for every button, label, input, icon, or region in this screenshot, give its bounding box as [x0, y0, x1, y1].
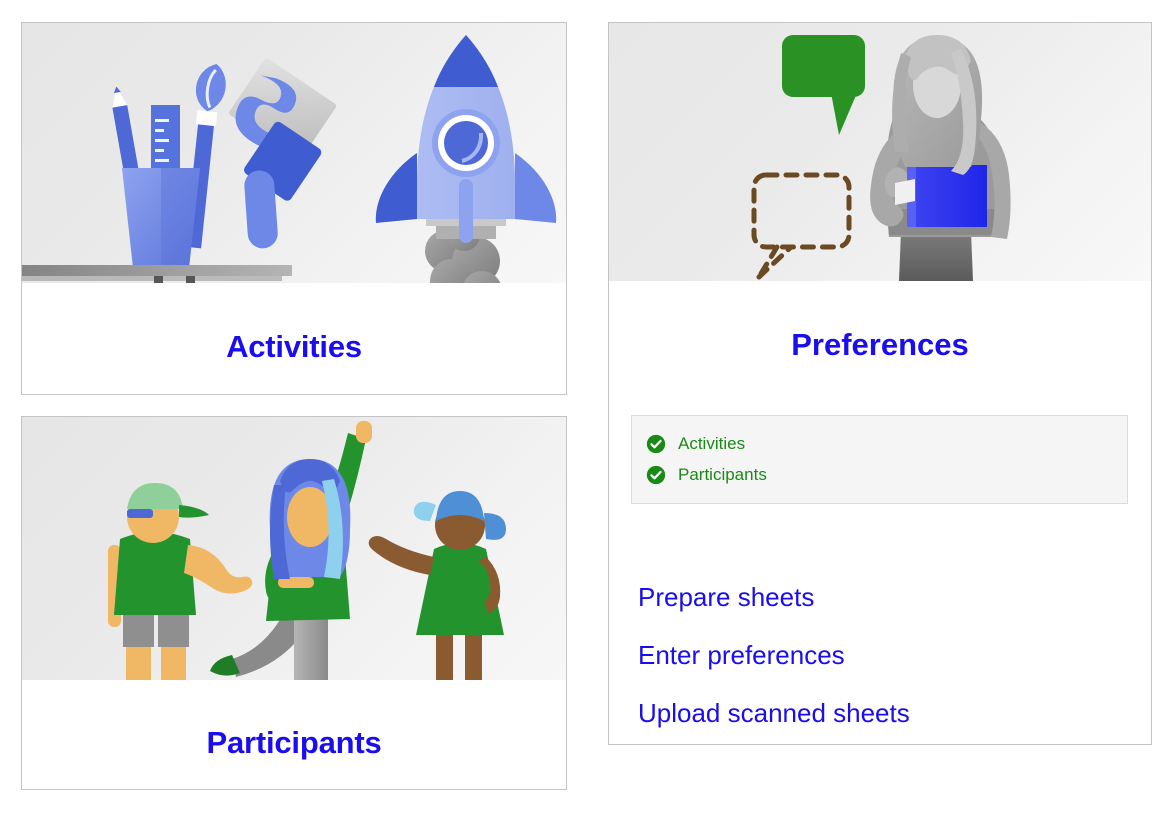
woman-with-speech-bubbles-icon — [609, 23, 1151, 281]
checklist-label: Activities — [678, 434, 745, 454]
activities-illustration — [22, 23, 566, 283]
three-people-celebrating-icon — [22, 417, 566, 680]
card-activities[interactable]: Activities — [21, 22, 567, 395]
panel-title-preferences: Preferences — [609, 327, 1151, 363]
woman-figure — [870, 35, 1010, 281]
card-participants[interactable]: Participants — [21, 416, 567, 790]
checklist-item-participants[interactable]: Participants — [632, 459, 1127, 490]
checklist-label: Participants — [678, 465, 767, 485]
check-circle-icon — [646, 434, 666, 454]
participant-woman-center — [210, 421, 372, 680]
card-title-activities: Activities — [22, 329, 566, 365]
participant-boy — [108, 483, 252, 680]
preferences-illustration — [609, 23, 1151, 281]
participants-illustration — [22, 417, 566, 680]
completion-checklist: Activities Participants — [631, 415, 1128, 504]
page-root: Activities — [0, 0, 1174, 816]
check-circle-icon — [646, 465, 666, 485]
card-title-participants: Participants — [22, 725, 566, 761]
link-prepare-sheets[interactable]: Prepare sheets — [638, 568, 1108, 626]
checklist-item-activities[interactable]: Activities — [632, 428, 1127, 459]
green-speech-bubble — [782, 35, 865, 135]
participant-girl — [369, 491, 506, 680]
link-enter-preferences[interactable]: Enter preferences — [638, 626, 1108, 684]
dashed-speech-bubble — [754, 175, 849, 277]
panel-preferences: Preferences Activities Participants Prep — [608, 22, 1152, 745]
desk-supplies-and-rocket-icon — [22, 23, 566, 283]
action-link-list: Prepare sheets Enter preferences Upload … — [638, 568, 1108, 742]
link-upload-scanned-sheets[interactable]: Upload scanned sheets — [638, 684, 1108, 742]
